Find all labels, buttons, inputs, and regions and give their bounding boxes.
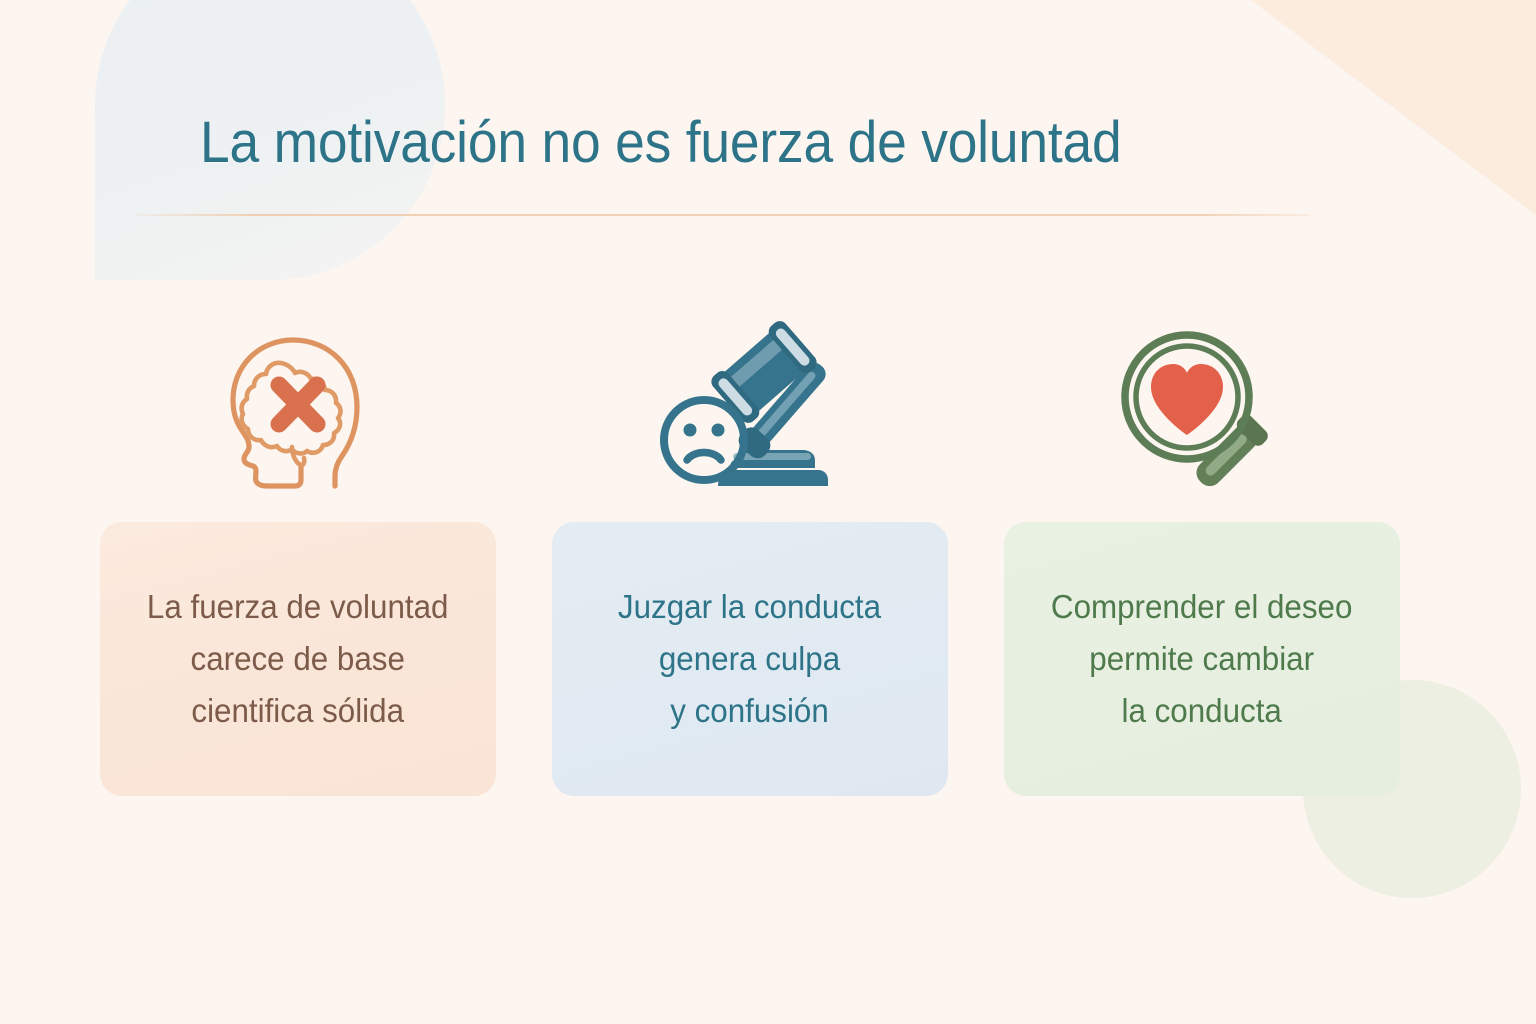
card-understanding: Comprender el deseo permite cambiar la c… [1004,522,1400,796]
magnifier-heart-icon [1102,300,1302,522]
card-line: la conducta [1051,685,1352,737]
card-line: genera culpa [618,633,881,685]
columns-container: La fuerza de voluntad carece de base cie… [100,300,1400,800]
card-line: Juzgar la conducta [618,581,881,633]
column-willpower: La fuerza de voluntad carece de base cie… [100,300,496,800]
column-understanding: Comprender el deseo permite cambiar la c… [1004,300,1400,800]
column-judgement: Juzgar la conducta genera culpa y confus… [552,300,948,800]
card-line: cientifica sólida [147,685,449,737]
triangle-topright-decoration [1251,0,1536,215]
gavel-sad-face-icon [650,300,850,522]
card-line: Comprender el deseo [1051,581,1352,633]
brain-head-x-icon [198,300,398,522]
card-line: y confusión [618,685,881,737]
card-willpower: La fuerza de voluntad carece de base cie… [100,522,496,796]
card-line: permite cambiar [1051,633,1352,685]
card-judgement: Juzgar la conducta genera culpa y confus… [552,522,948,796]
card-line: carece de base [147,633,449,685]
card-line: La fuerza de voluntad [147,581,449,633]
title-divider [135,214,1310,216]
slide-canvas: La motivación no es fuerza de voluntad [0,0,1536,1024]
page-title: La motivación no es fuerza de voluntad [200,110,1286,177]
card-willpower-text: La fuerza de voluntad carece de base cie… [147,581,449,737]
card-judgement-text: Juzgar la conducta genera culpa y confus… [618,581,881,737]
card-understanding-text: Comprender el deseo permite cambiar la c… [1051,581,1352,737]
